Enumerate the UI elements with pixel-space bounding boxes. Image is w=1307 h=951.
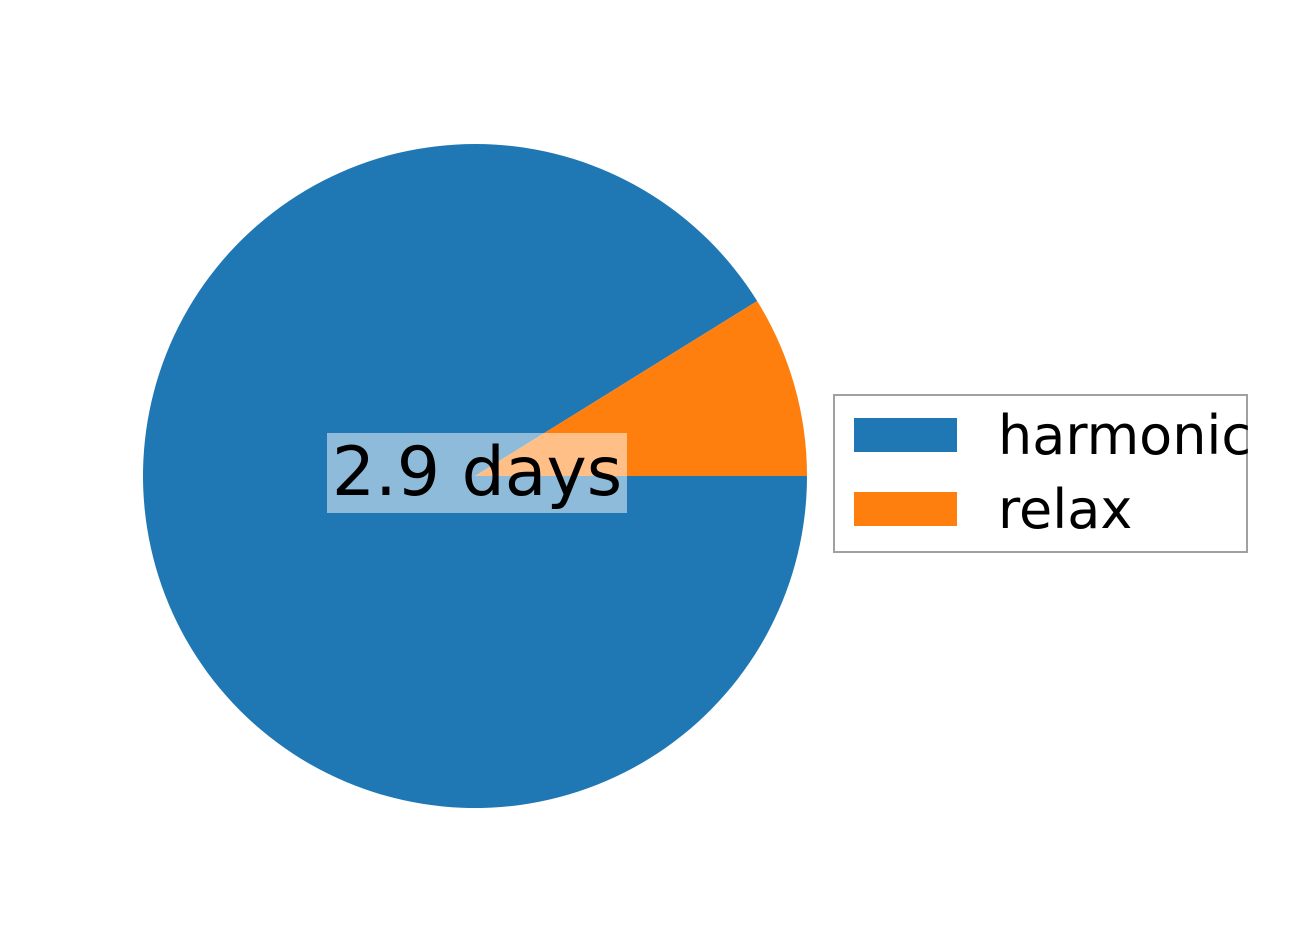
legend-swatch-relax (854, 492, 957, 526)
legend-label-relax: relax (998, 483, 1132, 537)
legend: harmonic relax (833, 394, 1248, 553)
legend-item-harmonic[interactable]: harmonic (854, 418, 1251, 452)
pie-chart-figure: 2.9 days harmonic relax (0, 0, 1307, 951)
pie-center-annotation: 2.9 days (327, 433, 627, 513)
pie-center-annotation-text: 2.9 days (332, 439, 622, 507)
legend-swatch-harmonic (854, 418, 957, 452)
legend-item-relax[interactable]: relax (854, 492, 1132, 526)
legend-label-harmonic: harmonic (998, 409, 1251, 463)
